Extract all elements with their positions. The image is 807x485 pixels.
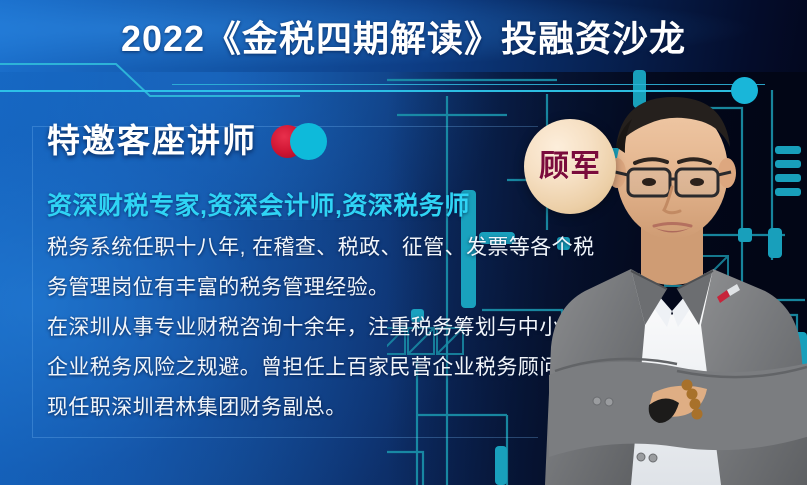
bio-line: 税务系统任职十八年, 在稽查、税政、征管、发票等各个税 — [47, 228, 577, 268]
speaker-name: 顾军 — [539, 151, 601, 183]
lead-title: 特邀客座讲师 — [47, 120, 257, 162]
bio-line: 企业税务风险之规避。曾担任上百家民营企业税务顾问， — [47, 348, 577, 388]
subtitle: 资深财税专家,资深会计师,资深税务师 — [47, 186, 470, 222]
stepped-line-decor — [0, 58, 300, 100]
cyan-circle-icon — [290, 123, 327, 160]
bio-line: 在深圳从事专业财税咨询十余年，注重税务筹划与中小 — [47, 308, 577, 348]
two-circles-icon — [271, 121, 343, 161]
speaker-name-badge: 顾军 — [524, 119, 616, 214]
bio-text-block: 税务系统任职十八年, 在稽查、税政、征管、发票等各个税 务管理岗位有丰富的税务管… — [47, 228, 577, 428]
bio-line: 务管理岗位有丰富的税务管理经验。 — [47, 268, 577, 308]
lead-title-row: 特邀客座讲师 — [47, 120, 343, 162]
bio-line: 现任职深圳君林集团财务副总。 — [47, 388, 577, 428]
page-title: 2022《金税四期解读》投融资沙龙 — [0, 14, 807, 64]
promo-poster: 2022《金税四期解读》投融资沙龙 特邀客座讲师 资深财税专家,资深会计师,资深… — [0, 0, 807, 485]
